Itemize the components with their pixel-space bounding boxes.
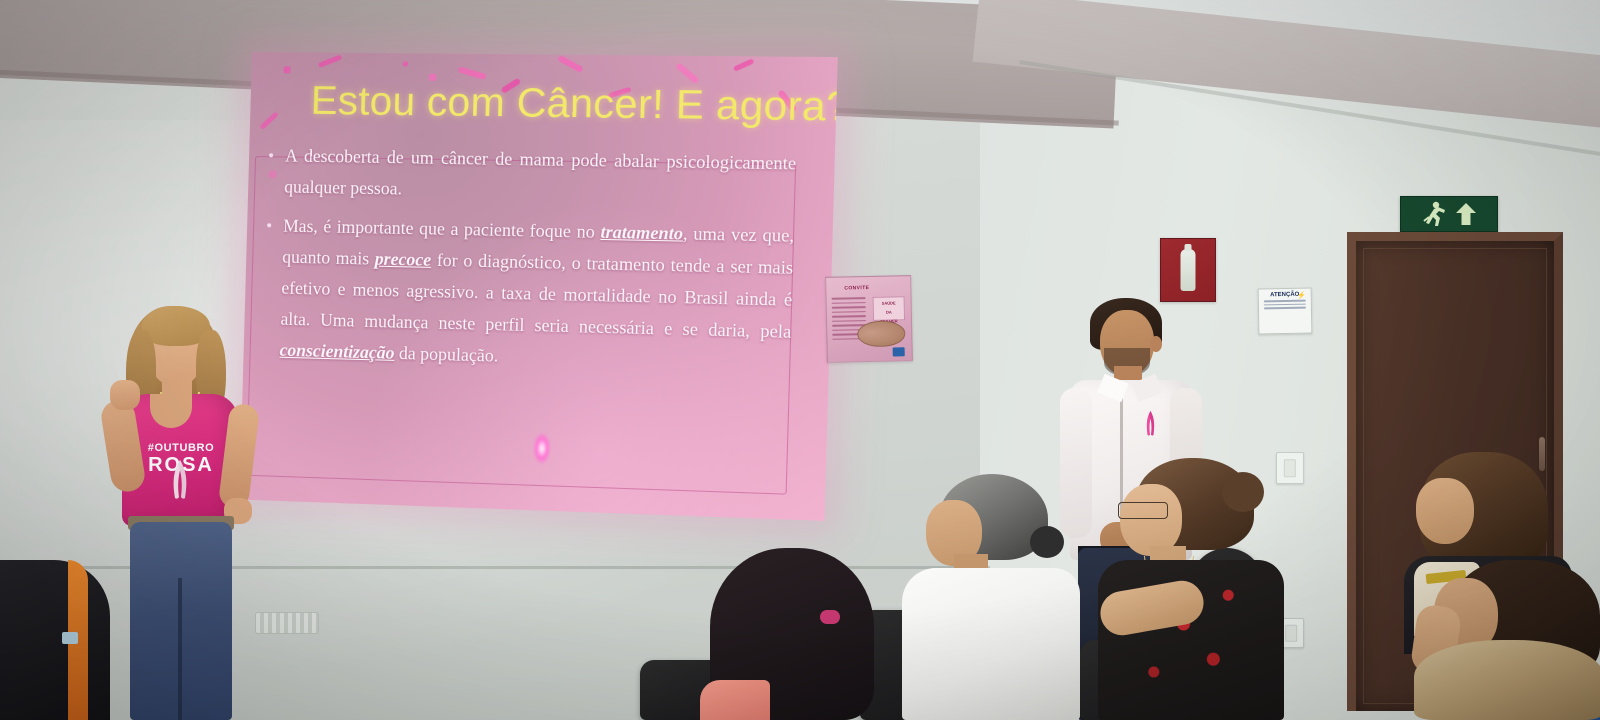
poster-box-line-2: DA: [874, 309, 904, 316]
presenter-jeans: [130, 522, 232, 720]
audience-blonde-hair: [1414, 640, 1600, 720]
audience-member-front-row: [700, 548, 890, 720]
chair-label-tag: [62, 632, 78, 644]
bullet2-emphasis-conscientizacao: conscientização: [279, 340, 394, 363]
confetti-streamer: [675, 62, 700, 84]
confetti-streamer: [557, 55, 584, 73]
tshirt-text-line-1: #OUTUBRO: [138, 442, 224, 454]
poster-title: CONVITE: [844, 285, 869, 292]
chair-backrest: [0, 560, 110, 720]
running-person-icon: [1420, 201, 1450, 227]
poster-highlight-box: SAÚDE DA MULHER: [873, 296, 905, 321]
awareness-poster: CONVITE SAÚDE DA MULHER: [825, 275, 913, 363]
poster-logo: [893, 347, 905, 356]
audience-white-blouse: [902, 568, 1080, 720]
audience-hair-bun: [1222, 472, 1264, 512]
audience-member-bottom-right: [1414, 640, 1600, 720]
audience-member-white-blouse: [884, 470, 1100, 720]
bullet2-emphasis-precoce: precoce: [375, 249, 432, 270]
confetti-streamer: [458, 66, 487, 80]
fire-extinguisher-sign: [1160, 238, 1216, 302]
up-arrow-icon: [1454, 201, 1478, 227]
presentation-room-photo: Estou com Câncer! E agora? A descoberta …: [0, 0, 1600, 720]
confetti-streamer: [733, 58, 755, 72]
attention-notice-sign: ATENÇÃO ⚡: [1258, 288, 1313, 335]
attention-sign-line: [1264, 307, 1306, 309]
confetti-streamer: [318, 54, 342, 67]
projected-slide: Estou com Câncer! E agora? A descoberta …: [240, 52, 838, 521]
audience-member-red-top: [1086, 458, 1306, 720]
emergency-exit-sign: [1400, 196, 1498, 232]
poster-box-line-1: SAÚDE: [874, 300, 904, 307]
hair-tie: [820, 610, 840, 624]
slide-bullet-1: A descoberta de um câncer de mama pode a…: [258, 140, 797, 212]
bullet2-emphasis-tratamento: tratamento: [600, 222, 683, 244]
pink-ribbon-icon: [170, 458, 190, 500]
warning-bolt-icon: ⚡: [1297, 292, 1306, 300]
presenter: #OUTUBRO ROSA: [104, 300, 294, 720]
audience-face: [1416, 478, 1474, 544]
poster-breast-illustration: [857, 320, 906, 347]
confetti-dot: [283, 66, 290, 73]
slide-body: A descoberta de um câncer de mama pode a…: [253, 140, 797, 388]
slide-title: Estou com Câncer! E agora?: [310, 79, 838, 131]
empty-chair-left: [0, 560, 120, 720]
presenter-raised-fist: [110, 380, 140, 410]
attention-sign-line: [1264, 300, 1306, 302]
confetti-streamer: [259, 111, 279, 130]
pink-ribbon-pin-icon: [1144, 410, 1157, 436]
bullet2-segment-1: Mas, é importante que a paciente foque n…: [283, 216, 601, 242]
man-ear: [1150, 336, 1162, 352]
audience-pink-shoulder: [700, 680, 770, 720]
confetti-dot: [403, 61, 408, 66]
audience-hair-bun: [1030, 526, 1064, 558]
attention-sign-line: [1264, 303, 1306, 305]
eyeglasses-icon: [1118, 502, 1168, 519]
bullet2-segment-4: da população.: [394, 343, 498, 366]
laser-pointer-dot: [533, 433, 550, 464]
fire-extinguisher-icon: [1181, 249, 1196, 291]
slide-bullet-2: Mas, é importante que a paciente foque n…: [253, 210, 794, 380]
